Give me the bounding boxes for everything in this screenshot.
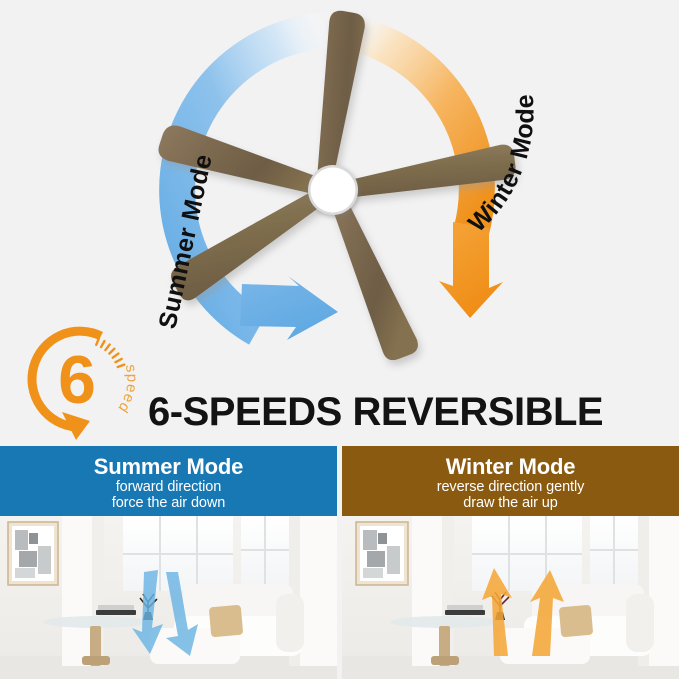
badge-circular-arrow [32,331,101,440]
badge-tick-marks [96,338,124,367]
winter-banner-line1: reverse direction gently [437,479,585,495]
summer-banner-line1: forward direction [116,479,222,495]
winter-banner-title: Winter Mode [446,454,576,479]
fan-hub [308,165,358,215]
summer-room-photo [0,516,337,679]
mode-comparison-panels: Summer Mode forward direction force the … [0,446,679,679]
summer-banner-title: Summer Mode [94,454,243,479]
badge-speed-word: speed [114,363,141,416]
wall-art [356,522,408,585]
six-speed-badge-svg: speed [22,320,142,440]
winter-room-photo [342,516,679,679]
summer-banner-line2: force the air down [112,495,225,511]
winter-room-illustration [342,516,679,679]
summer-mode-panel: Summer Mode forward direction force the … [0,446,337,679]
page-title: 6-SPEEDS REVERSIBLE [148,390,668,435]
winter-mode-banner: Winter Mode reverse direction gently dra… [342,446,679,516]
wall-art [8,522,58,585]
fan-diagram-hero: Summer Mode Winter Mode [0,0,679,446]
six-speed-badge: speed 6 [22,320,142,440]
summer-mode-banner: Summer Mode forward direction force the … [0,446,337,516]
winter-banner-line2: draw the air up [463,495,557,511]
winter-mode-panel: Winter Mode reverse direction gently dra… [342,446,679,679]
product-infographic: Summer Mode Winter Mode [0,0,679,679]
summer-room-illustration [0,516,337,679]
